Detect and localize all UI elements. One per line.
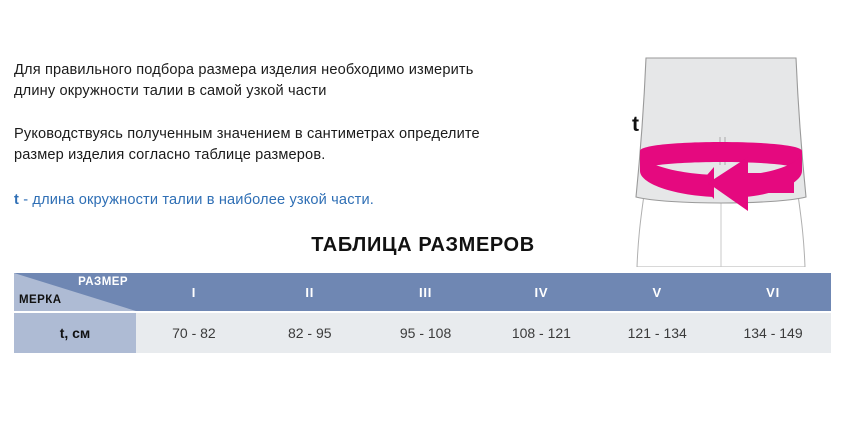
table-row: t, см 70 - 82 82 - 95 95 - 108 108 - 121… [14,313,831,353]
table-header-row: РАЗМЕР МЕРКА I II III IV V VI [14,273,831,311]
size-table: РАЗМЕР МЕРКА I II III IV V VI t, см 70 -… [14,273,831,353]
instruction-paragraph-1: Для правильного подбора размера изделия … [14,60,514,102]
column-header-1: I [136,273,252,311]
row-value-cell-5: 121 - 134 [599,313,715,353]
row-value-cell-3: 95 - 108 [368,313,484,353]
page-title: ТАБЛИЦА РАЗМЕРОВ [0,234,846,257]
instruction-paragraph-2: Руководствуясь полученным значением в са… [14,124,514,166]
corner-measure-label: МЕРКА [19,294,62,306]
row-value-cell-6: 134 - 149 [715,313,831,353]
row-label-cell: t, см [14,313,136,353]
row-value-cell-2: 82 - 95 [252,313,368,353]
column-header-6: VI [715,273,831,311]
column-header-3: III [368,273,484,311]
row-value-cell-1: 70 - 82 [136,313,252,353]
measure-symbol-label: t [632,113,639,137]
row-value-cell-4: 108 - 121 [483,313,599,353]
column-header-2: II [252,273,368,311]
instructions-block: Для правильного подбора размера изделия … [14,60,514,211]
legend-line: t - длина окружности талии в наиболее уз… [14,190,514,211]
legend-text: - длина окружности талии в наиболее узко… [19,192,374,208]
column-header-5: V [599,273,715,311]
corner-size-label: РАЗМЕР [78,276,128,288]
table-corner-header: РАЗМЕР МЕРКА [14,273,136,311]
column-header-4: IV [483,273,599,311]
